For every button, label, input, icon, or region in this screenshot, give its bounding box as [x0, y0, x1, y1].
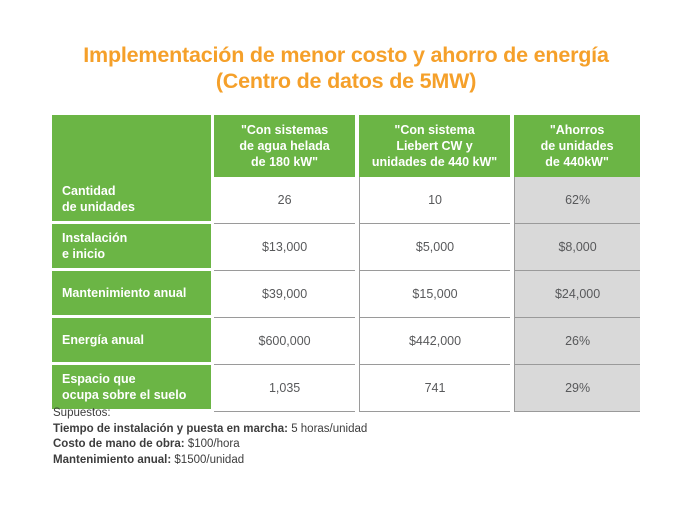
row-label-mantenimiento-anual: Mantenimiento anual [52, 271, 211, 318]
table-row: Mantenimiento anual $39,000 $15,000 $24,… [52, 271, 640, 318]
comparison-table: "Con sistemas de agua helada de 180 kW" … [52, 115, 640, 412]
table-corner-cell [52, 115, 211, 177]
table-header-row: "Con sistemas de agua helada de 180 kW" … [52, 115, 640, 177]
cell-value: $442,000 [359, 318, 511, 365]
row-label-line: Cantidad [62, 184, 115, 198]
column-header-line: "Con sistema [394, 123, 474, 137]
row-label-line: de unidades [62, 200, 135, 214]
cell-value: $39,000 [214, 271, 355, 318]
cell-value-highlight: 62% [514, 177, 640, 224]
row-label-line: Instalación [62, 231, 127, 245]
column-header-line: de 180 kW" [251, 155, 318, 169]
cell-value: $600,000 [214, 318, 355, 365]
assumption-item: Tiempo de instalación y puesta en marcha… [53, 422, 613, 438]
column-header-line: "Ahorros [550, 123, 605, 137]
table-row: Energía anual $600,000 $442,000 26% [52, 318, 640, 365]
assumption-value: $100/hora [188, 438, 240, 450]
column-header-savings: "Ahorros de unidades de 440kW" [514, 115, 640, 177]
page-title-line-2: (Centro de datos de 5MW) [0, 68, 692, 94]
cell-value-highlight: $8,000 [514, 224, 640, 271]
row-label-energia-anual: Energía anual [52, 318, 211, 365]
column-header-line: de unidades [541, 139, 614, 153]
column-header-line: de 440kW" [545, 155, 609, 169]
row-label-instalacion-e-inicio: Instalación e inicio [52, 224, 211, 271]
row-label-line: ocupa sobre el suelo [62, 388, 186, 402]
assumption-item: Mantenimiento anual: $1500/unidad [53, 453, 613, 469]
assumptions-block: Supuestos: Tiempo de instalación y puest… [53, 406, 613, 468]
row-label-espacio-que-ocupa: Espacio que ocupa sobre el suelo [52, 365, 211, 412]
row-label-line: Energía anual [62, 333, 144, 347]
row-label-line: Mantenimiento anual [62, 286, 186, 300]
column-header-line: "Con sistemas [241, 123, 328, 137]
cell-value: 10 [359, 177, 511, 224]
page-title: Implementación de menor costo y ahorro d… [0, 42, 692, 94]
column-header-line: unidades de 440 kW" [372, 155, 497, 169]
cell-value: $15,000 [359, 271, 511, 318]
cell-value-highlight: 29% [514, 365, 640, 412]
assumption-label: Tiempo de instalación y puesta en marcha… [53, 423, 288, 435]
column-header-line: Liebert CW y [396, 139, 472, 153]
column-header-chilled-water: "Con sistemas de agua helada de 180 kW" [214, 115, 355, 177]
cell-value: 741 [359, 365, 511, 412]
assumption-value: $1500/unidad [174, 454, 244, 466]
table-row: Cantidad de unidades 26 10 62% [52, 177, 640, 224]
assumption-item: Costo de mano de obra: $100/hora [53, 437, 613, 453]
row-label-line: Espacio que [62, 372, 136, 386]
cell-value: $5,000 [359, 224, 511, 271]
assumption-label: Mantenimiento anual: [53, 454, 171, 466]
column-header-liebert-cw: "Con sistema Liebert CW y unidades de 44… [359, 115, 511, 177]
cell-value: 1,035 [214, 365, 355, 412]
cell-value: 26 [214, 177, 355, 224]
assumptions-heading: Supuestos: [53, 406, 613, 422]
assumption-value: 5 horas/unidad [291, 423, 367, 435]
assumption-label: Costo de mano de obra: [53, 438, 185, 450]
table-row: Instalación e inicio $13,000 $5,000 $8,0… [52, 224, 640, 271]
cell-value-highlight: 26% [514, 318, 640, 365]
cell-value-highlight: $24,000 [514, 271, 640, 318]
cell-value: $13,000 [214, 224, 355, 271]
column-header-line: de agua helada [239, 139, 329, 153]
row-label-line: e inicio [62, 247, 105, 261]
page-title-line-1: Implementación de menor costo y ahorro d… [0, 42, 692, 68]
row-label-cantidad-de-unidades: Cantidad de unidades [52, 177, 211, 224]
infographic-page: Implementación de menor costo y ahorro d… [0, 0, 692, 514]
table-row: Espacio que ocupa sobre el suelo 1,035 7… [52, 365, 640, 412]
